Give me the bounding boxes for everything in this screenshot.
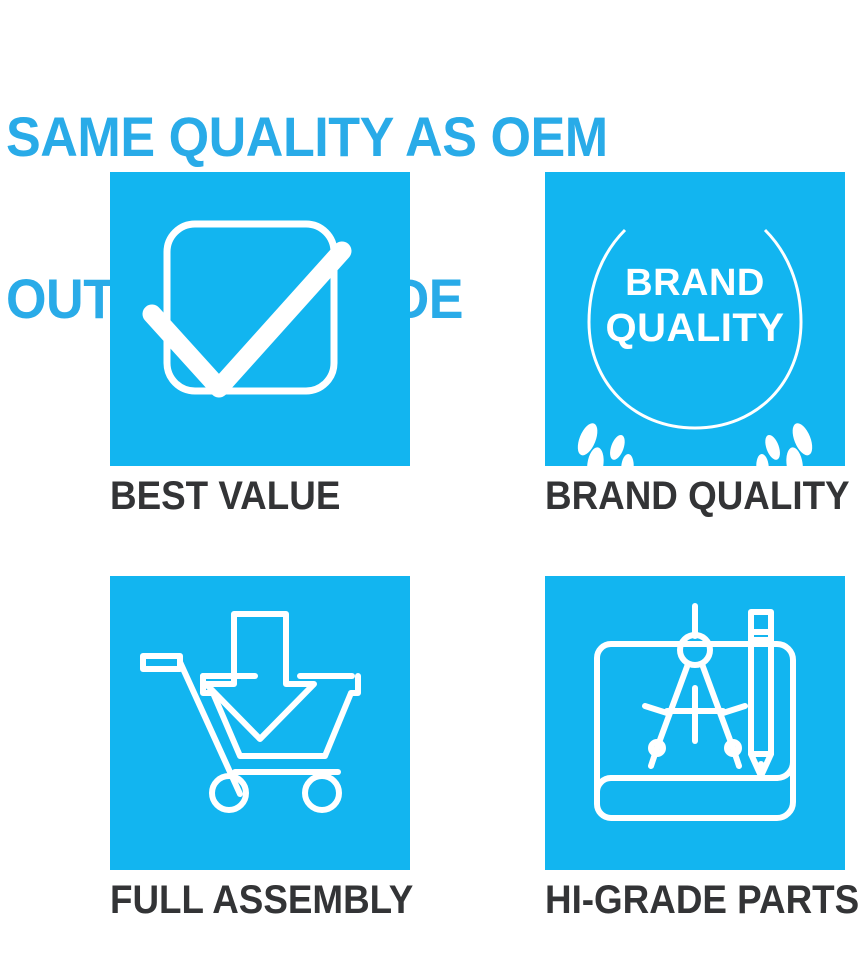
feature-card-best-value[interactable]: BEST VALUE <box>110 172 445 518</box>
feature-icon-tile <box>110 172 410 466</box>
feature-icon-tile <box>545 576 845 870</box>
feature-icon-tile <box>110 576 410 870</box>
feature-row-bottom: FULL ASSEMBLY <box>0 576 862 980</box>
shopping-cart-download-icon <box>110 576 410 870</box>
feature-icon-tile: BRAND QUALITY <box>545 172 845 466</box>
blueprint-compass-pencil-icon <box>545 576 845 870</box>
feature-card-brand-quality[interactable]: BRAND QUALITY BRAND QUALITY <box>545 172 862 518</box>
feature-card-hi-grade-parts[interactable]: HI-GRADE PARTS <box>545 576 862 922</box>
feature-card-full-assembly[interactable]: FULL ASSEMBLY <box>110 576 445 922</box>
feature-label: HI-GRADE PARTS <box>545 878 853 922</box>
checkbox-check-icon <box>110 172 410 466</box>
feature-label: BEST VALUE <box>110 474 418 518</box>
feature-grid: BEST VALUE <box>0 172 862 980</box>
feature-row-top: BEST VALUE <box>0 172 862 576</box>
laurel-wreath-icon <box>545 172 845 466</box>
feature-label: BRAND QUALITY <box>545 474 853 518</box>
feature-label: FULL ASSEMBLY <box>110 878 418 922</box>
headline-line-1: SAME QUALITY AS OEM <box>6 110 797 164</box>
